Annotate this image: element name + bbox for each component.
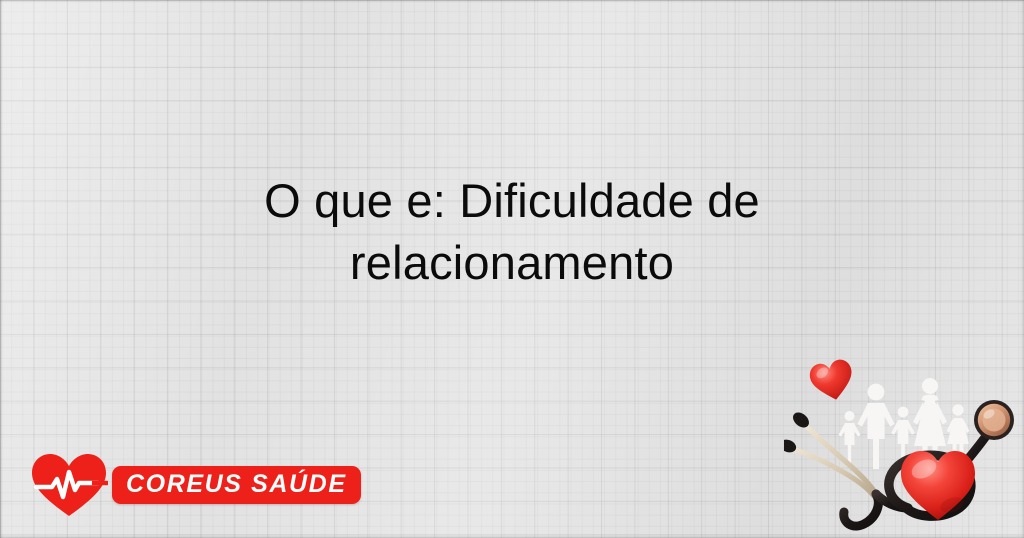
- brand-name-badge[interactable]: COREUS SAÚDE: [112, 466, 361, 504]
- medical-collage-graphic: [784, 352, 1024, 538]
- small-red-heart-icon: [808, 358, 857, 404]
- father-figure: [857, 384, 894, 469]
- heart-pulse-icon: [30, 452, 108, 518]
- slide-canvas: O que e: Dificuldade de relacionamento C…: [0, 0, 1024, 538]
- brand-logo[interactable]: COREUS SAÚDE: [30, 448, 350, 518]
- stethoscope-chestpiece-icon: [974, 400, 1014, 440]
- brand-name-label: COREUS SAÚDE: [112, 470, 361, 501]
- stethoscope-earpiece-icon: [784, 409, 812, 454]
- page-title: O que e: Dificuldade de relacionamento: [150, 170, 874, 294]
